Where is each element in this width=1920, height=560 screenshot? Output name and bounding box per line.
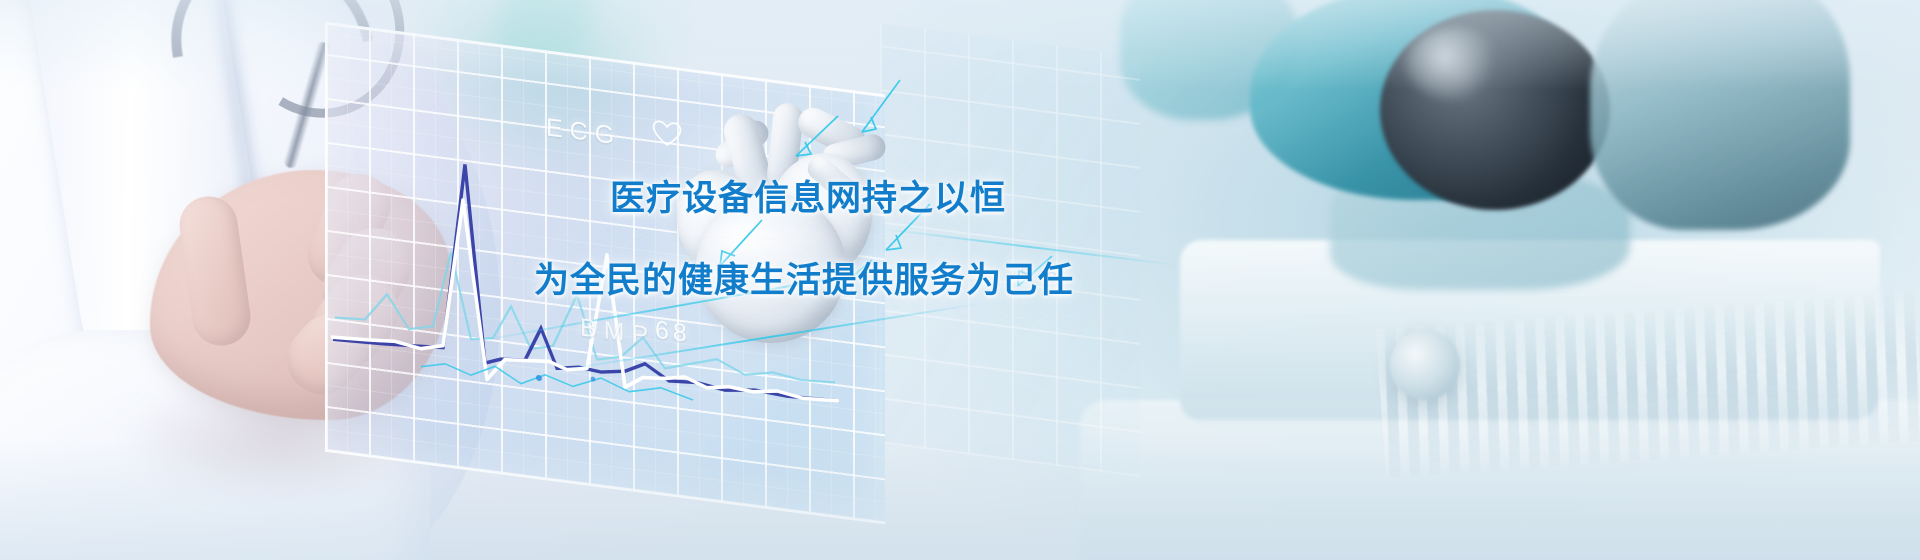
vignette-bottom [0,440,1920,560]
headline-primary: 医疗设备信息网持之以恒 [610,170,1006,221]
headline-secondary: 为全民的健康生活提供服务为己任 [534,252,1074,303]
medical-hero-banner: ECG BMP 68 S C 医疗设备信息网持之以恒 为全民的健康生活提供服务为… [0,0,1920,560]
vignette-top [0,0,1920,90]
